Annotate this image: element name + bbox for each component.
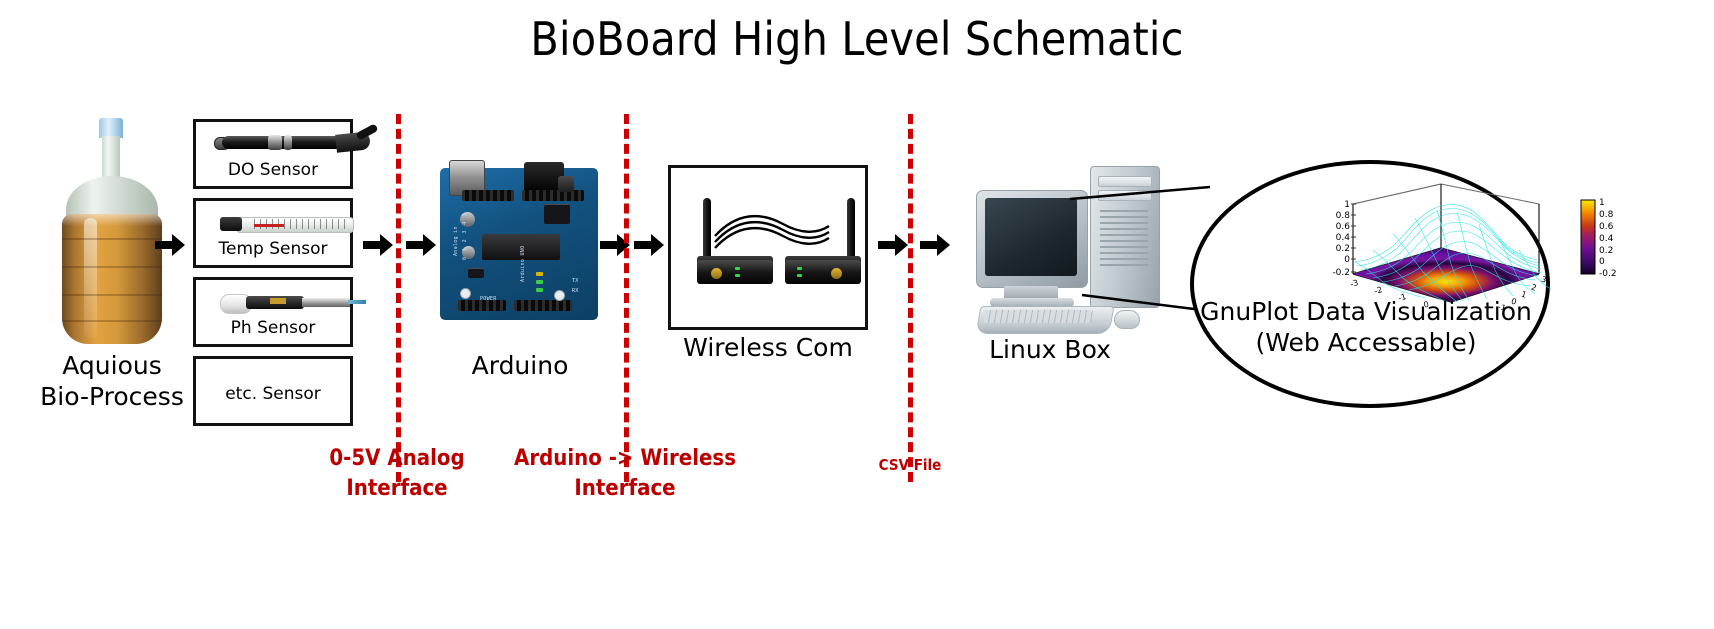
wireless-caption-line1: Wireless Com [668,332,868,363]
sensor-box-ph[interactable]: Ph Sensor [193,277,353,347]
svg-text:0.4: 0.4 [1336,233,1351,243]
interface-label-wireless: Arduino -> Wireless Interface [510,444,740,504]
sensor-box-temp[interactable]: Temp Sensor [193,198,353,268]
carboy-vessel-icon [52,118,172,348]
thermometer-icon [196,201,356,241]
linuxbox-caption-line1: Linux Box [950,334,1150,365]
gnuplot-caption-line2: (Web Accessable) [1185,327,1547,358]
sensor-label-ph: Ph Sensor [196,318,350,338]
svg-text:0.2: 0.2 [1599,246,1613,256]
flow-arrow-6 [878,232,908,258]
interface-label-analog: 0-5V Analog Interface [312,444,482,504]
flow-arrow-3 [406,232,436,258]
arduino-silkscreen-analog-in: Analog in [453,226,459,256]
svg-text:0: 0 [1344,255,1350,265]
interface-label-wireless-line2: Interface [510,474,740,504]
gnuplot-caption-line1: GnuPlot Data Visualization [1185,296,1547,327]
ph-probe-icon [196,280,356,320]
svg-text:2: 2 [1530,283,1538,293]
sensor-box-etc[interactable]: etc. Sensor [193,356,353,426]
sensor-label-etc: etc. Sensor [196,384,350,404]
arduino-silkscreen-rx: RX [572,288,579,294]
sensor-label-temp: Temp Sensor [196,239,350,259]
svg-text:3: 3 [1540,275,1548,285]
svg-text:0.2: 0.2 [1336,244,1350,254]
svg-text:-2: -2 [1373,285,1383,296]
wireless-com-box[interactable] [668,165,868,330]
wireless-caption: Wireless Com [668,332,868,363]
sensor-label-do: DO Sensor [196,160,350,180]
svg-text:0: 0 [1599,257,1605,267]
interface-label-csv: CSV File [860,450,960,480]
interface-label-wireless-line1: Arduino -> Wireless [510,444,740,474]
rf-waves-icon [713,210,831,250]
flow-arrow-1 [155,232,185,258]
arduino-silkscreen-power: POWER [480,296,497,302]
interface-boundary-analog [396,114,401,482]
svg-text:0.8: 0.8 [1336,211,1351,221]
flow-arrow-2 [363,232,393,258]
gnuplot-caption: GnuPlot Data Visualization (Web Accessab… [1185,296,1547,358]
arduino-silkscreen-board-name: Arduino UNO [520,246,526,282]
interface-boundary-wireless [624,114,629,482]
svg-text:1: 1 [1599,198,1605,208]
interface-label-analog-line1: 0-5V Analog [312,444,482,474]
do-probe-icon [196,122,356,162]
arduino-silkscreen-analog-pins: 0 1 2 3 4 5 [462,211,468,260]
linuxbox-caption: Linux Box [950,334,1150,365]
svg-text:0.8: 0.8 [1599,210,1614,220]
svg-text:1: 1 [1344,200,1350,210]
page-title: BioBoard High Level Schematic [0,12,1714,66]
arduino-board-icon[interactable]: Analog in 0 1 2 3 4 5 Arduino UNO POWER … [440,160,602,330]
interface-boundary-csv [908,114,913,482]
wireless-module-left [687,250,773,284]
svg-text:0.4: 0.4 [1599,234,1614,244]
svg-text:-3: -3 [1349,278,1359,289]
svg-text:-0.2: -0.2 [1599,269,1617,279]
svg-text:-0.2: -0.2 [1333,268,1350,278]
gnuplot-surface-chart: 1 0.8 0.6 0.4 0.2 0 -0.2 -3 -2 -1 0 3 [1333,182,1643,310]
wireless-module-right [775,250,861,284]
flow-arrow-5 [634,232,664,258]
interface-label-analog-line2: Interface [312,474,482,504]
svg-text:0.6: 0.6 [1599,222,1614,232]
arduino-caption-line1: Arduino [420,350,620,381]
bioprocess-caption: Aquious Bio-Process [12,350,212,412]
bioprocess-caption-line2: Bio-Process [12,381,212,412]
flow-arrow-7 [920,232,950,258]
sensor-box-do[interactable]: DO Sensor [193,119,353,189]
arduino-silkscreen-tx: TX [572,278,579,284]
interface-label-csv-line1: CSV File [860,450,960,480]
arduino-caption: Arduino [420,350,620,381]
bioprocess-caption-line1: Aquious [12,350,212,381]
svg-text:0.6: 0.6 [1336,222,1351,232]
